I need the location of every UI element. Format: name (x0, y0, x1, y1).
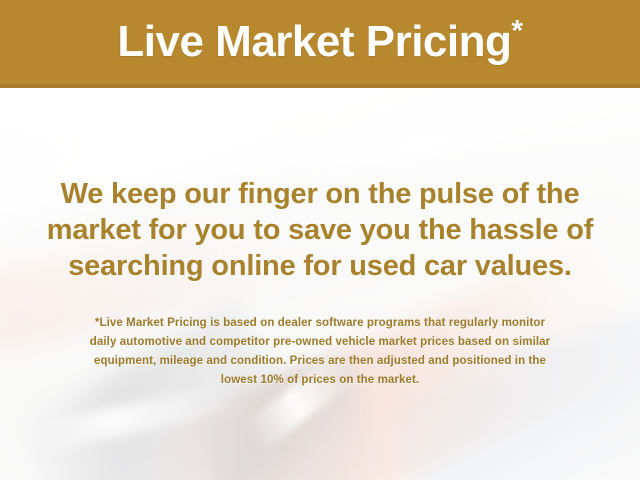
disclaimer-line: lowest 10% of prices on the market. (30, 371, 610, 390)
headline-block: We keep our finger on the pulse of the m… (26, 176, 614, 284)
title-asterisk: * (511, 14, 522, 47)
headline-line: searching online for used car values. (26, 248, 614, 284)
slide-content: We keep our finger on the pulse of the m… (0, 92, 640, 480)
headline-line: market for you to save you the hassle of (26, 212, 614, 248)
disclaimer-line: daily automotive and competitor pre-owne… (30, 333, 610, 352)
page-title-text: Live Market Pricing (117, 17, 511, 66)
page-title: Live Market Pricing* (117, 20, 522, 64)
title-banner: Live Market Pricing* (0, 0, 640, 88)
disclaimer-line: *Live Market Pricing is based on dealer … (30, 314, 610, 333)
live-market-pricing-slide: Live Market Pricing* We keep our finger … (0, 0, 640, 480)
headline-line: We keep our finger on the pulse of the (26, 176, 614, 212)
disclaimer-line: equipment, mileage and condition. Prices… (30, 352, 610, 371)
disclaimer-block: *Live Market Pricing is based on dealer … (30, 314, 610, 390)
